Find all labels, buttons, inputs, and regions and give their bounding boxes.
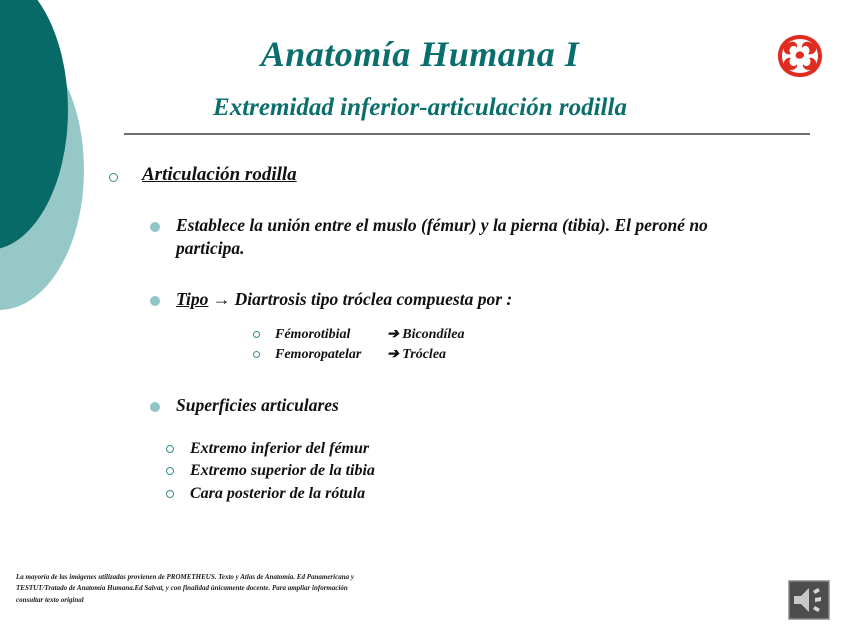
subitem-value: Tróclea	[402, 347, 446, 362]
list-item: Fémorotibial➔ Bicondílea	[275, 325, 848, 345]
subitem-term: Femoropatelar	[275, 345, 387, 365]
hollow-ring-bullet-icon	[166, 445, 174, 453]
hollow-ring-bullet-icon	[253, 331, 260, 338]
slide-header: Anatomía Humana I Extremidad inferior-ar…	[0, 0, 848, 140]
bullet-level2-label: Diartrosis tipo tróclea compuesta por :	[235, 289, 513, 309]
anatomy-course-logo-icon	[774, 32, 826, 80]
list-item: Cara posterior de la rótula	[190, 483, 848, 506]
footer-credits: La mayoría de las imágenes utilizadas pr…	[16, 572, 346, 606]
sublist-superficies: Extremo inferior del fémur Extremo super…	[0, 438, 848, 506]
hollow-ring-bullet-icon	[109, 173, 118, 182]
list-item: Extremo inferior del fémur	[190, 438, 848, 461]
bullet-level2-label: Superficies articulares	[176, 395, 339, 415]
subitem-label: Cara posterior de la rótula	[190, 485, 365, 502]
slide-content: Articulación rodilla Establece la unión …	[0, 150, 848, 506]
subitem-label: Extremo inferior del fémur	[190, 440, 369, 457]
speaker-sound-icon[interactable]	[788, 580, 830, 620]
subitem-value: Bicondílea	[402, 327, 464, 342]
bullet-level1-label: Articulación rodilla	[142, 164, 297, 186]
subitem-term: Fémorotibial	[275, 325, 387, 345]
bullet-level2-superficies: Superficies articulares	[0, 394, 848, 417]
filled-dot-bullet-icon	[150, 402, 160, 412]
filled-dot-bullet-icon	[150, 222, 160, 232]
header-divider	[124, 133, 810, 135]
hollow-ring-bullet-icon	[253, 351, 260, 358]
page-title: Anatomía Humana I	[120, 33, 720, 75]
bullet-level2-tipo: Tipo → Diartrosis tipo tróclea compuesta…	[0, 288, 848, 311]
list-item: Femoropatelar➔ Tróclea	[275, 345, 848, 365]
arrow-icon: →	[213, 289, 231, 309]
page-subtitle: Extremidad inferior-articulación rodilla	[120, 94, 720, 122]
slide-canvas: Anatomía Humana I Extremidad inferior-ar…	[0, 0, 848, 636]
sublist-tipo: Fémorotibial➔ Bicondílea Femoropatelar➔ …	[0, 325, 848, 364]
tipo-underlined-term: Tipo	[176, 289, 208, 309]
hollow-ring-bullet-icon	[166, 467, 174, 475]
bullet-level1-articulacion-rodilla: Articulación rodilla	[0, 164, 848, 186]
filled-dot-bullet-icon	[150, 296, 160, 306]
bullet-level2-establece: Establece la unión entre el muslo (fémur…	[0, 214, 848, 260]
hollow-ring-bullet-icon	[166, 490, 174, 498]
bullet-level2-label: Establece la unión entre el muslo (fémur…	[176, 215, 708, 258]
footer-line-2: TESTUT/Tratado de Anatomía Humana.Ed Sal…	[16, 583, 346, 594]
arrow-icon: ➔	[387, 347, 399, 362]
arrow-icon: ➔	[387, 327, 399, 342]
footer-line-1: La mayoría de las imágenes utilizadas pr…	[16, 572, 346, 583]
list-item: Extremo superior de la tibia	[190, 460, 848, 483]
subitem-label: Extremo superior de la tibia	[190, 462, 375, 479]
footer-line-3: consultar texto original	[16, 595, 346, 606]
